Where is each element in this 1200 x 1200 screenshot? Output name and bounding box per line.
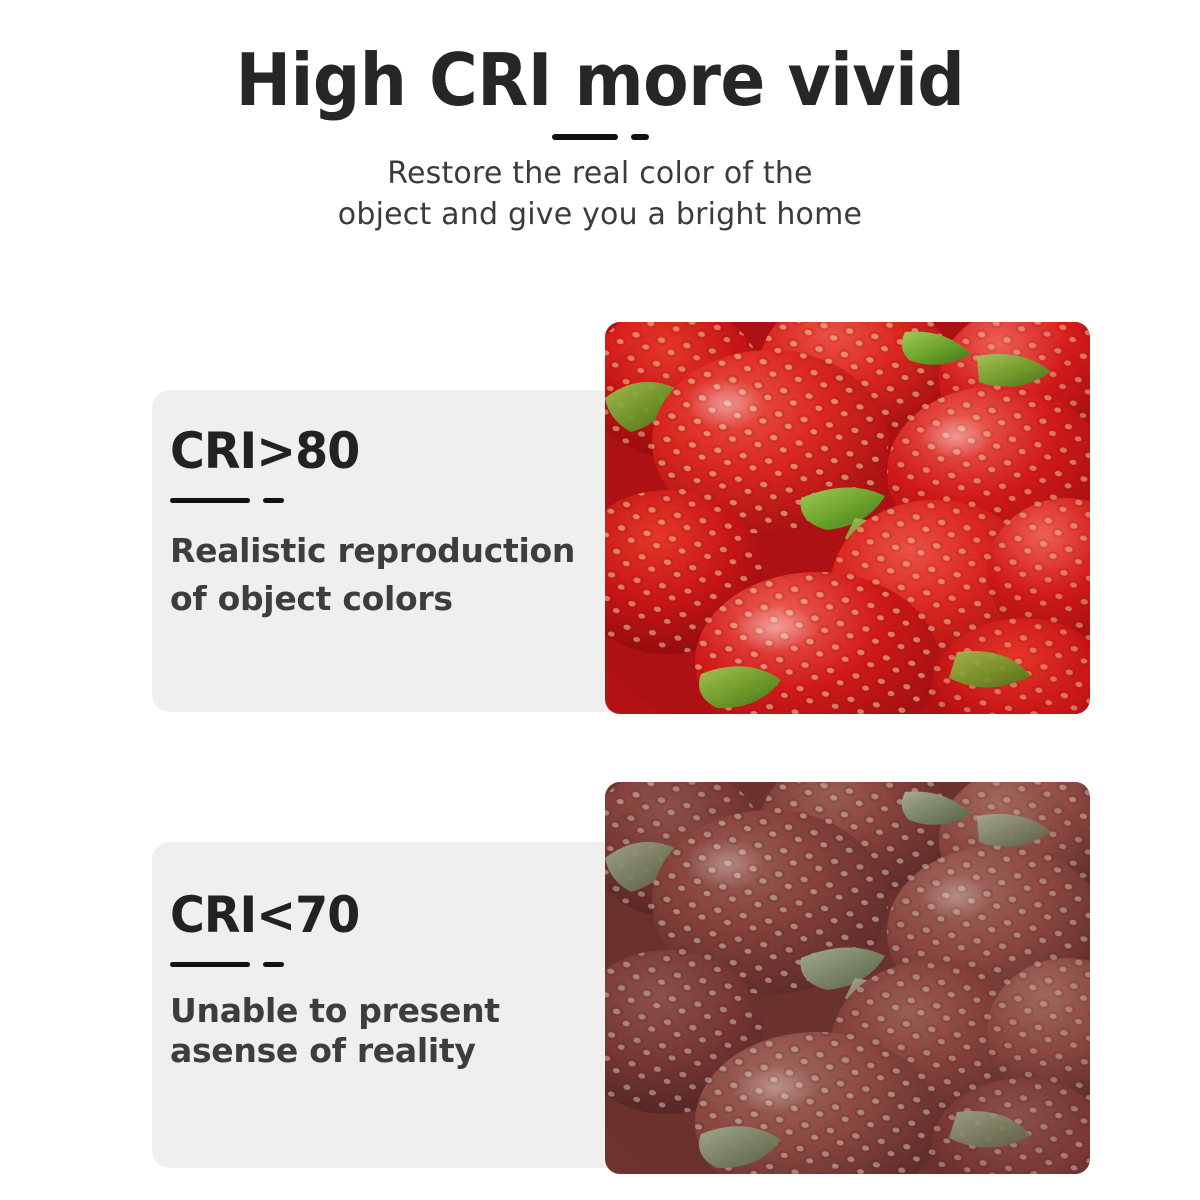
divider-long-dash	[552, 134, 618, 140]
info-card-high-cri: CRI>80 Realistic reproduction of object …	[152, 390, 622, 712]
card-dash-divider-icon-high-cri	[170, 498, 640, 503]
divider-long-dash	[170, 498, 250, 503]
vivid-strawberries-photo	[605, 322, 1090, 714]
comparison-block-low-cri: CRI<70 Unable to present asense of reali…	[0, 780, 1200, 1180]
card-body-line-2: of object colors	[170, 575, 640, 623]
divider-short-dash	[263, 962, 284, 967]
card-body-high-cri: Realistic reproduction of object colors	[170, 527, 640, 622]
subtitle-line-1: Restore the real color of the	[0, 154, 1200, 195]
card-body-low-cri: Unable to present asense of reality	[170, 991, 640, 1072]
divider-long-dash	[170, 962, 250, 967]
card-body-line-2: asense of reality	[170, 1031, 640, 1071]
card-dash-divider-icon-low-cri	[170, 962, 640, 967]
card-title-low-cri: CRI<70	[170, 890, 617, 940]
header-dash-divider-icon	[0, 134, 1200, 140]
divider-short-dash	[631, 134, 649, 140]
page-subtitle: Restore the real color of the object and…	[0, 154, 1200, 236]
card-body-line-1: Unable to present	[170, 991, 640, 1031]
card-body-line-1: Realistic reproduction	[170, 527, 640, 575]
card-title-high-cri: CRI>80	[170, 426, 617, 476]
muted-strawberries-photo	[605, 782, 1090, 1174]
divider-short-dash	[263, 498, 284, 503]
info-card-content-low-cri: CRI<70 Unable to present asense of reali…	[170, 890, 640, 1072]
info-card-low-cri: CRI<70 Unable to present asense of reali…	[152, 842, 622, 1168]
page-title: High CRI more vivid	[48, 0, 1152, 116]
comparison-block-high-cri: CRI>80 Realistic reproduction of object …	[0, 320, 1200, 720]
info-card-content-high-cri: CRI>80 Realistic reproduction of object …	[170, 426, 640, 622]
header: High CRI more vivid Restore the real col…	[0, 0, 1200, 236]
subtitle-line-2: object and give you a bright home	[0, 195, 1200, 236]
